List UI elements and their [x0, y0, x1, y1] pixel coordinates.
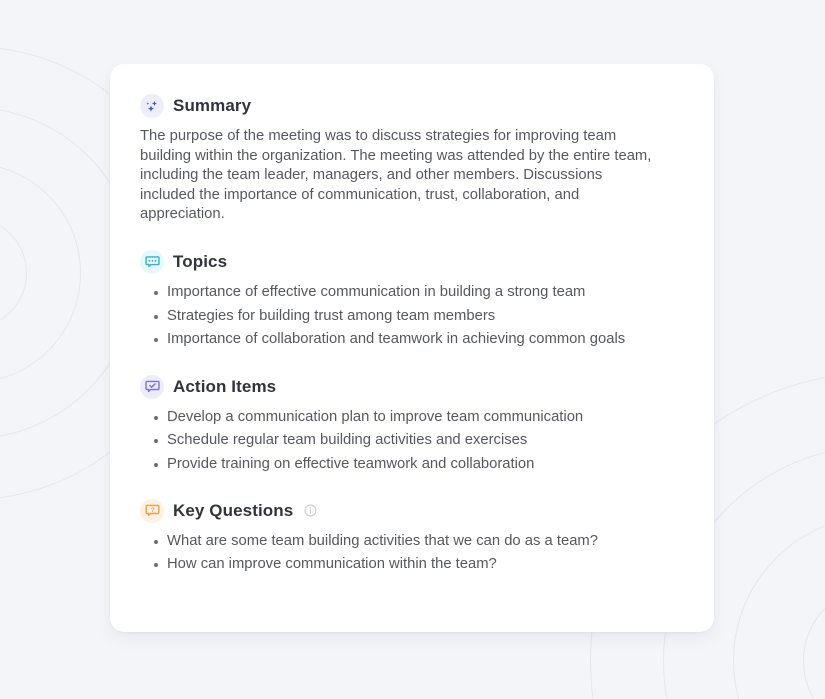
section-topics-header: Topics — [140, 250, 674, 274]
section-summary-header: Summary — [140, 94, 674, 118]
list-item: Strategies for building trust among team… — [167, 307, 674, 327]
decorative-ring — [0, 217, 27, 329]
section-summary-title: Summary — [173, 96, 251, 116]
spacer — [140, 475, 674, 499]
speech-bubble-dots-icon — [140, 250, 164, 274]
section-action-items: Action Items Develop a communication pla… — [140, 375, 674, 475]
section-key-questions: ? Key Questions What are some team build… — [140, 499, 674, 575]
list-item: How can improve communication within the… — [167, 555, 674, 575]
svg-text:?: ? — [150, 507, 154, 514]
sparkle-icon — [140, 94, 164, 118]
speech-bubble-question-icon: ? — [140, 499, 164, 523]
section-topics: Topics Importance of effective communica… — [140, 250, 674, 350]
summary-paragraph: The purpose of the meeting was to discus… — [140, 127, 665, 225]
section-topics-title: Topics — [173, 252, 227, 272]
decorative-ring — [803, 585, 825, 699]
list-item: Provide training on effective teamwork a… — [167, 455, 674, 475]
topics-list: Importance of effective communication in… — [140, 283, 674, 350]
list-item: Importance of effective communication in… — [167, 283, 674, 303]
meeting-notes-card: Summary The purpose of the meeting was t… — [110, 64, 714, 632]
section-summary: Summary The purpose of the meeting was t… — [140, 94, 674, 225]
section-action-items-header: Action Items — [140, 375, 674, 399]
speech-bubble-check-icon — [140, 375, 164, 399]
list-item: What are some team building activities t… — [167, 532, 674, 552]
spacer — [140, 225, 674, 250]
decorative-ring — [733, 515, 825, 699]
info-icon[interactable] — [304, 504, 317, 517]
list-item: Importance of collaboration and teamwork… — [167, 330, 674, 350]
list-item: Develop a communication plan to improve … — [167, 408, 674, 428]
section-key-questions-header: ? Key Questions — [140, 499, 674, 523]
spacer — [140, 350, 674, 375]
action-items-list: Develop a communication plan to improve … — [140, 408, 674, 475]
key-questions-list: What are some team building activities t… — [140, 532, 674, 575]
section-key-questions-title: Key Questions — [173, 501, 293, 521]
section-action-items-title: Action Items — [173, 377, 276, 397]
list-item: Schedule regular team building activitie… — [167, 431, 674, 451]
decorative-ring — [0, 163, 81, 383]
